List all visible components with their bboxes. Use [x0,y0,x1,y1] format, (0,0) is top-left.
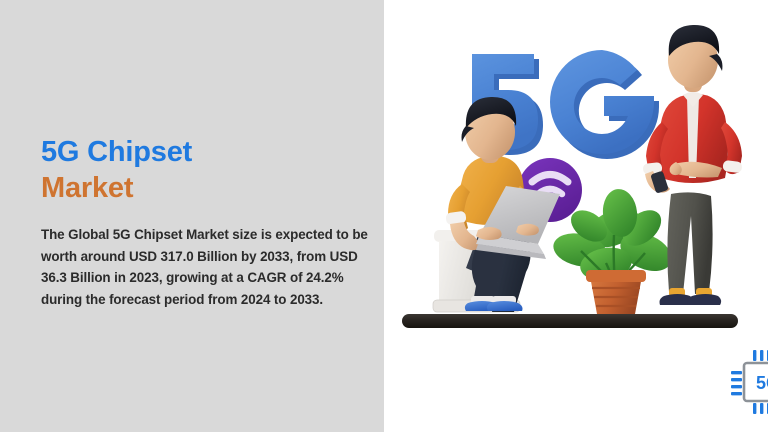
chip-5g-badge-icon: 5G [729,348,768,416]
left-info-panel: 5G Chipset Market The Global 5G Chipset … [0,0,384,432]
plant-pot [586,270,646,314]
page-title: 5G Chipset Market [41,134,371,206]
market-description: The Global 5G Chipset Market size is exp… [41,224,375,310]
chip-pins-top [753,350,768,361]
page-title-line-2: Market [41,170,371,206]
chip-label: 5G [756,373,768,393]
infographic-banner: 5G Chipset Market The Global 5G Chipset … [0,0,768,432]
illustration-panel: 5G [384,0,768,432]
3d-scene-illustration [384,0,768,340]
chip-pins-bottom [753,403,768,414]
scene-platform [402,314,738,328]
page-title-line-1: 5G Chipset [41,134,371,170]
chip-pins-left [731,371,742,395]
